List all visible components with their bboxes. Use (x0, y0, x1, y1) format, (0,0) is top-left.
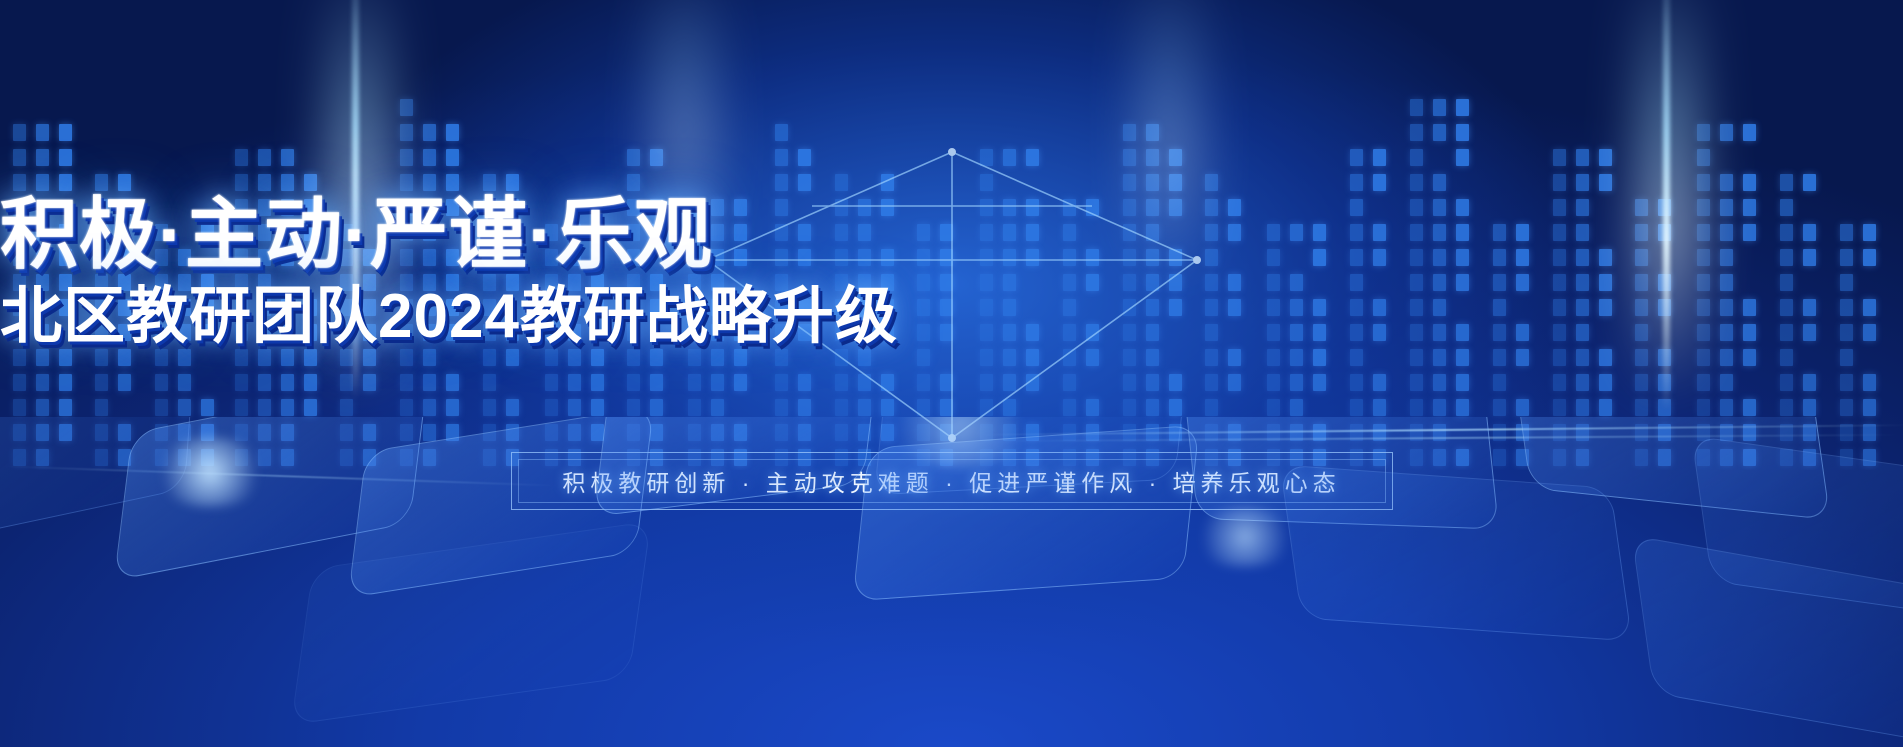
building-window (775, 374, 788, 391)
building-window (13, 149, 26, 166)
building-window (1743, 124, 1756, 141)
building-window (235, 149, 248, 166)
building-window (281, 374, 294, 391)
building-window (1205, 374, 1218, 391)
building-window (235, 399, 248, 416)
building-window (423, 399, 436, 416)
building-window (1576, 149, 1589, 166)
building-window (1803, 374, 1816, 391)
building-window (178, 374, 191, 391)
building-window (1373, 374, 1386, 391)
building-window (1553, 399, 1566, 416)
floor-glow (150, 437, 270, 507)
building-window (423, 374, 436, 391)
building-window (36, 124, 49, 141)
building-window (1026, 149, 1039, 166)
floor-glow (1190, 507, 1300, 567)
building-window (1123, 399, 1136, 416)
building-window (483, 374, 496, 391)
building-window (1456, 374, 1469, 391)
building-window (1493, 399, 1506, 416)
building-window (1123, 124, 1136, 141)
building-window (1146, 399, 1159, 416)
building-window (1169, 399, 1182, 416)
building-window (1003, 374, 1016, 391)
building-window (235, 374, 248, 391)
building-window (1635, 399, 1648, 416)
building-window (446, 399, 459, 416)
building-window (688, 399, 701, 416)
building-window (940, 374, 953, 391)
building-window (1063, 399, 1076, 416)
building-window (1267, 399, 1280, 416)
building-window (1720, 399, 1733, 416)
building-window (258, 374, 271, 391)
building-window (13, 374, 26, 391)
building-window (258, 399, 271, 416)
building-window (155, 399, 168, 416)
building-window (917, 399, 930, 416)
building-window (775, 399, 788, 416)
building-window (59, 374, 72, 391)
building-window (568, 374, 581, 391)
building-window (545, 399, 558, 416)
building-window (1169, 374, 1182, 391)
building-window (1863, 399, 1876, 416)
building-window (178, 399, 191, 416)
building-window (1743, 399, 1756, 416)
building-window (980, 149, 993, 166)
building-window (400, 374, 413, 391)
building-window (650, 399, 663, 416)
building-window (1063, 374, 1076, 391)
building-window (798, 399, 811, 416)
building-window (1456, 124, 1469, 141)
building-window (1228, 374, 1241, 391)
building-window (1803, 399, 1816, 416)
building-window (59, 399, 72, 416)
building-window (711, 399, 724, 416)
building-window (1576, 399, 1589, 416)
building-window (446, 374, 459, 391)
building-window (1599, 374, 1612, 391)
building-window (1267, 374, 1280, 391)
building-window (775, 149, 788, 166)
building-window (980, 399, 993, 416)
building-window (13, 399, 26, 416)
building-window (1146, 374, 1159, 391)
building-window (881, 374, 894, 391)
building-window (36, 399, 49, 416)
building-window (1290, 374, 1303, 391)
building-window (95, 374, 108, 391)
building-window (627, 399, 640, 416)
building-window (446, 149, 459, 166)
building-window (95, 399, 108, 416)
building-window (1697, 374, 1710, 391)
building-window (591, 374, 604, 391)
building-window (1026, 374, 1039, 391)
building-window (1373, 149, 1386, 166)
building-window (1003, 399, 1016, 416)
building-window (1697, 399, 1710, 416)
building-window (483, 399, 496, 416)
building-window (1697, 149, 1710, 166)
building-window (688, 374, 701, 391)
building-window (1576, 374, 1589, 391)
building-window (340, 399, 353, 416)
building-window (734, 374, 747, 391)
building-window (1123, 374, 1136, 391)
building-window (1433, 99, 1446, 116)
building-window (1290, 399, 1303, 416)
building-window (446, 124, 459, 141)
building-window (400, 124, 413, 141)
building-window (1599, 149, 1612, 166)
floor-tile (291, 521, 652, 725)
building-window (1350, 399, 1363, 416)
building-window (1433, 399, 1446, 416)
building-window (858, 374, 871, 391)
building-window (13, 124, 26, 141)
building-window (281, 399, 294, 416)
building-window (1493, 374, 1506, 391)
building-window (627, 374, 640, 391)
building-window (1350, 374, 1363, 391)
building-window (1516, 399, 1529, 416)
building-window (881, 399, 894, 416)
building-window (1086, 399, 1099, 416)
building-window (1553, 374, 1566, 391)
building-window (858, 399, 871, 416)
building-window (304, 399, 317, 416)
building-window (1599, 399, 1612, 416)
building-window (798, 374, 811, 391)
building-window (1410, 99, 1423, 116)
building-window (980, 374, 993, 391)
building-window (568, 399, 581, 416)
building-window (917, 374, 930, 391)
building-window (775, 124, 788, 141)
building-window (36, 374, 49, 391)
building-window (1720, 374, 1733, 391)
floor-tile (593, 417, 878, 517)
building-window (835, 374, 848, 391)
building-window (118, 374, 131, 391)
building-window (591, 399, 604, 416)
building-window (1410, 374, 1423, 391)
building-window (1456, 149, 1469, 166)
building-window (59, 149, 72, 166)
building-window (940, 399, 953, 416)
building-window (1003, 149, 1016, 166)
building-window (1780, 374, 1793, 391)
building-window (1433, 374, 1446, 391)
building-window (1433, 124, 1446, 141)
building-window (627, 149, 640, 166)
building-window (155, 374, 168, 391)
building-window (506, 399, 519, 416)
building-window (711, 374, 724, 391)
building-window (1350, 149, 1363, 166)
building-window (59, 124, 72, 141)
building-window (1373, 399, 1386, 416)
building-window (1553, 149, 1566, 166)
building-window (400, 149, 413, 166)
building-window (1410, 124, 1423, 141)
building-window (36, 149, 49, 166)
building-window (1123, 149, 1136, 166)
building-window (1863, 374, 1876, 391)
banner-title-secondary: 北区教研团队2024教研战略升级 (0, 265, 1903, 355)
building-window (1697, 124, 1710, 141)
building-window (1456, 399, 1469, 416)
building-window (423, 124, 436, 141)
building-window (1840, 399, 1853, 416)
building-window (304, 374, 317, 391)
banner-root: 积极·主动·严谨·乐观 北区教研团队2024教研战略升级 积极教研创新 · 主动… (0, 0, 1903, 747)
building-window (1313, 374, 1326, 391)
building-window (1456, 99, 1469, 116)
building-window (258, 149, 271, 166)
building-window (400, 99, 413, 116)
perspective-floor (0, 417, 1903, 747)
building-window (1410, 399, 1423, 416)
building-window (201, 399, 214, 416)
building-window (835, 399, 848, 416)
building-window (1780, 399, 1793, 416)
building-window (1720, 124, 1733, 141)
building-window (1410, 149, 1423, 166)
building-window (545, 374, 558, 391)
building-window (423, 149, 436, 166)
building-window (1840, 374, 1853, 391)
building-window (798, 149, 811, 166)
building-window (400, 399, 413, 416)
building-window (1205, 399, 1218, 416)
building-window (650, 374, 663, 391)
building-window (281, 149, 294, 166)
